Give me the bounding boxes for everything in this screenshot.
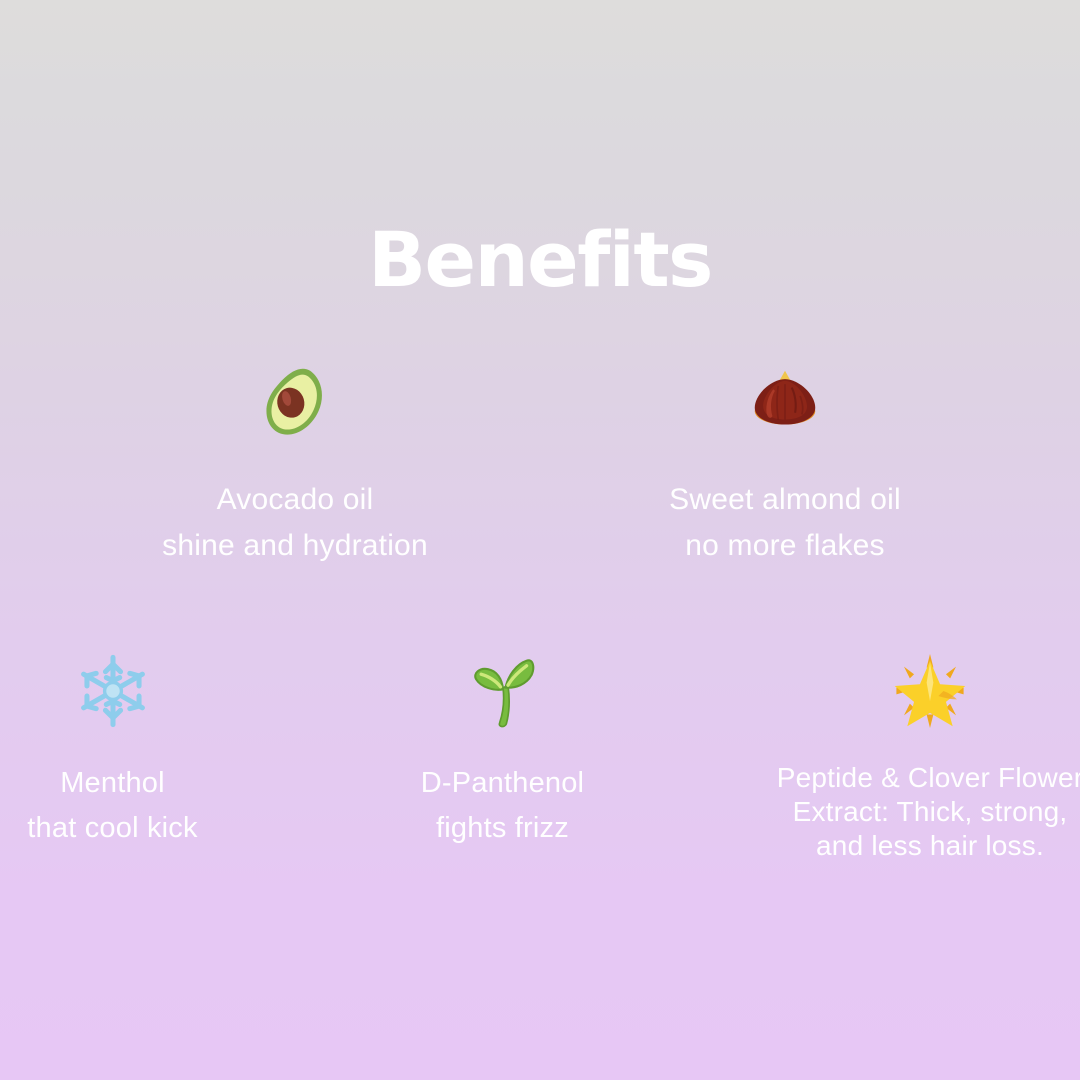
benefit-caption: Avocado oil shine and hydration <box>162 477 428 569</box>
avocado-icon <box>249 355 341 447</box>
benefit-item-menthol: Menthol that cool kick <box>0 645 225 851</box>
benefit-caption: Sweet almond oil no more flakes <box>669 477 901 569</box>
seedling-icon <box>457 645 549 737</box>
page-title: Benefits <box>0 222 1080 298</box>
benefit-item-sweet-almond-oil: Sweet almond oil no more flakes <box>635 355 935 569</box>
snowflake-icon <box>67 645 159 737</box>
benefits-row-top: Avocado oil shine and hydration Sweet al… <box>0 355 1080 569</box>
benefit-caption: Peptide & Clover Flower Extract: Thick, … <box>770 761 1080 863</box>
benefits-row-bottom: Menthol that cool kick D-Panthenol fight… <box>0 645 1080 863</box>
benefits-slide: Benefits Avocado oil shine and hydration <box>0 0 1080 1080</box>
benefit-caption: D-Panthenol fights frizz <box>421 761 584 851</box>
glowing-star-icon <box>884 645 976 737</box>
benefit-item-d-panthenol: D-Panthenol fights frizz <box>390 645 615 851</box>
benefit-item-avocado-oil: Avocado oil shine and hydration <box>145 355 445 569</box>
benefit-caption: Menthol that cool kick <box>27 761 197 851</box>
benefit-item-peptide-clover-flower-extract: Peptide & Clover Flower Extract: Thick, … <box>780 645 1080 863</box>
chestnut-icon <box>739 355 831 447</box>
